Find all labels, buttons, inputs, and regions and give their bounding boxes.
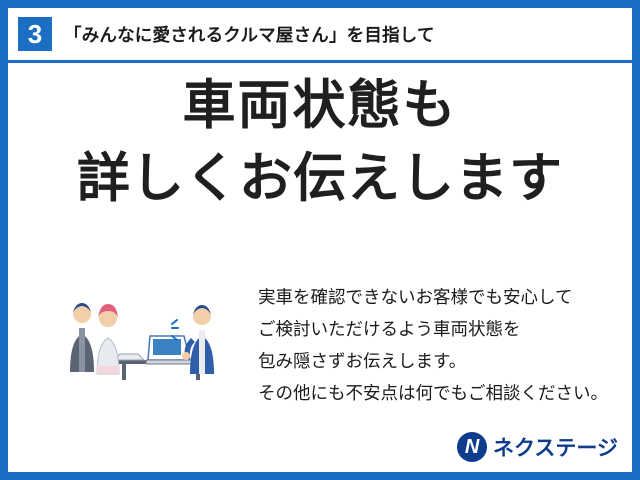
headline: 車両状態も 詳しくお伝えします bbox=[8, 75, 632, 210]
frame-border-bottom bbox=[0, 472, 640, 480]
body-line: 包み隠さずお伝えします。 bbox=[258, 346, 620, 378]
illustration-consultation bbox=[52, 276, 267, 386]
body-copy: 実車を確認できないお客様でも安心して ご検討いただけるよう車両状態を 包み隠さず… bbox=[258, 282, 620, 409]
promotional-slide: 3 「みんなに愛されるクルマ屋さん」を目指して 車両状態も 詳しくお伝えします bbox=[0, 0, 640, 480]
frame-border-top bbox=[0, 0, 640, 8]
header-title: 「みんなに愛されるクルマ屋さん」を目指して bbox=[64, 22, 435, 47]
body-line: 実車を確認できないお客様でも安心して bbox=[258, 282, 620, 314]
frame-border-left bbox=[0, 0, 8, 480]
header-step-number: 3 bbox=[18, 17, 52, 51]
headline-line-2: 詳しくお伝えします bbox=[8, 148, 632, 211]
body-line: その他にも不安点は何でもご相談ください。 bbox=[258, 378, 620, 410]
body-line: ご検討いただけるよう車両状態を bbox=[258, 314, 620, 346]
brand-logo: N ネクステージ bbox=[457, 432, 618, 462]
logo-mark-letter: N bbox=[465, 437, 479, 457]
header: 3 「みんなに愛されるクルマ屋さん」を目指して bbox=[8, 8, 632, 60]
logo-text: ネクステージ bbox=[493, 432, 618, 462]
logo-mark-icon: N bbox=[457, 432, 487, 462]
frame-border-right bbox=[632, 0, 640, 480]
header-divider bbox=[8, 60, 632, 63]
headline-line-1: 車両状態も bbox=[8, 75, 632, 138]
